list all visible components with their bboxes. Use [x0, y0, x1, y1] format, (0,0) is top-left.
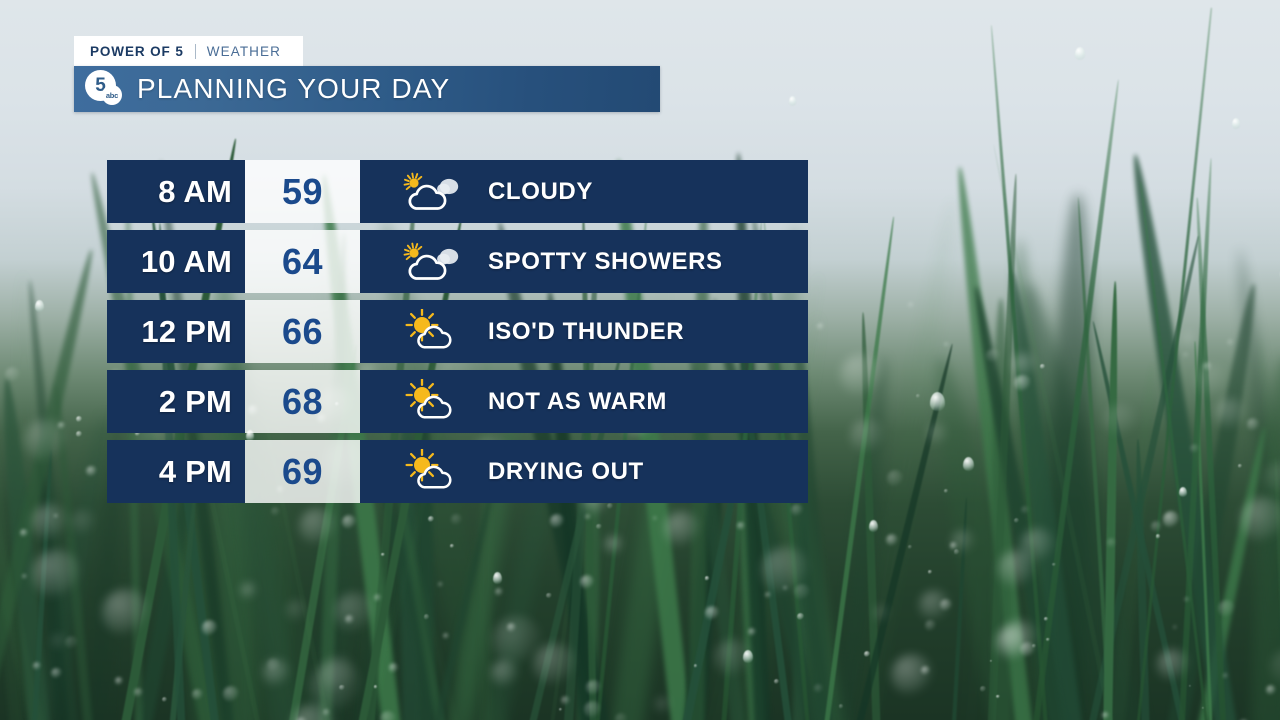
- forecast-condition-cell: DRYING OUT: [360, 440, 808, 503]
- forecast-condition-label: SPOTTY SHOWERS: [488, 248, 723, 276]
- forecast-row-2: 12 PM 66 ISO'D THUNDER: [107, 300, 808, 363]
- forecast-time-cell: 2 PM: [107, 370, 245, 433]
- forecast-condition-cell: CLOUDY: [360, 160, 808, 223]
- page-title: PLANNING YOUR DAY: [137, 73, 450, 105]
- forecast-time: 2 PM: [159, 384, 232, 420]
- forecast-time-cell: 8 AM: [107, 160, 245, 223]
- forecast-temperature: 64: [282, 241, 323, 283]
- forecast-temperature-cell: 59: [245, 160, 360, 223]
- forecast-time: 10 AM: [141, 244, 232, 280]
- forecast-condition-label: NOT AS WARM: [488, 388, 667, 416]
- forecast-condition-label: CLOUDY: [488, 178, 593, 206]
- forecast-row-1: 10 AM 64 SPOTTY SHOWERS: [107, 230, 808, 293]
- wews-channel-5-abc-logo-icon: 5 abc: [85, 70, 123, 108]
- hourly-forecast-table: 8 AM 59 CLOUDY 10 AM 64 SPOTTY SHOWERS: [107, 160, 808, 503]
- sun-behind-cloud-icon: [400, 449, 462, 495]
- forecast-temperature-cell: 64: [245, 230, 360, 293]
- forecast-temperature: 69: [282, 451, 323, 493]
- forecast-time: 8 AM: [158, 174, 232, 210]
- forecast-temperature-cell: 68: [245, 370, 360, 433]
- title-bar: 5 abc PLANNING YOUR DAY: [74, 66, 660, 112]
- forecast-temperature: 59: [282, 171, 323, 213]
- forecast-row-4: 4 PM 69 DRYING OUT: [107, 440, 808, 503]
- forecast-time: 4 PM: [159, 454, 232, 490]
- sun-behind-cloud-icon: [400, 309, 462, 355]
- mostly-cloudy-icon: [400, 239, 462, 285]
- breadcrumb-section: WEATHER: [207, 44, 281, 59]
- forecast-condition-cell: NOT AS WARM: [360, 370, 808, 433]
- forecast-row-3: 2 PM 68 NOT AS WARM: [107, 370, 808, 433]
- forecast-time-cell: 4 PM: [107, 440, 245, 503]
- forecast-temperature-cell: 69: [245, 440, 360, 503]
- breadcrumb-separator: [195, 44, 196, 59]
- forecast-temperature: 68: [282, 381, 323, 423]
- forecast-row-0: 8 AM 59 CLOUDY: [107, 160, 808, 223]
- mostly-cloudy-icon: [400, 169, 462, 215]
- sun-behind-cloud-icon: [400, 379, 462, 425]
- breadcrumb: POWER OF 5 WEATHER: [74, 36, 303, 66]
- forecast-temperature: 66: [282, 311, 323, 353]
- logo-network-badge: abc: [102, 85, 122, 105]
- forecast-condition-cell: ISO'D THUNDER: [360, 300, 808, 363]
- forecast-temperature-cell: 66: [245, 300, 360, 363]
- forecast-condition-label: ISO'D THUNDER: [488, 318, 684, 346]
- forecast-condition-cell: SPOTTY SHOWERS: [360, 230, 808, 293]
- forecast-time-cell: 12 PM: [107, 300, 245, 363]
- forecast-time: 12 PM: [141, 314, 232, 350]
- breadcrumb-brand: POWER OF 5: [90, 44, 184, 59]
- forecast-time-cell: 10 AM: [107, 230, 245, 293]
- forecast-condition-label: DRYING OUT: [488, 458, 644, 486]
